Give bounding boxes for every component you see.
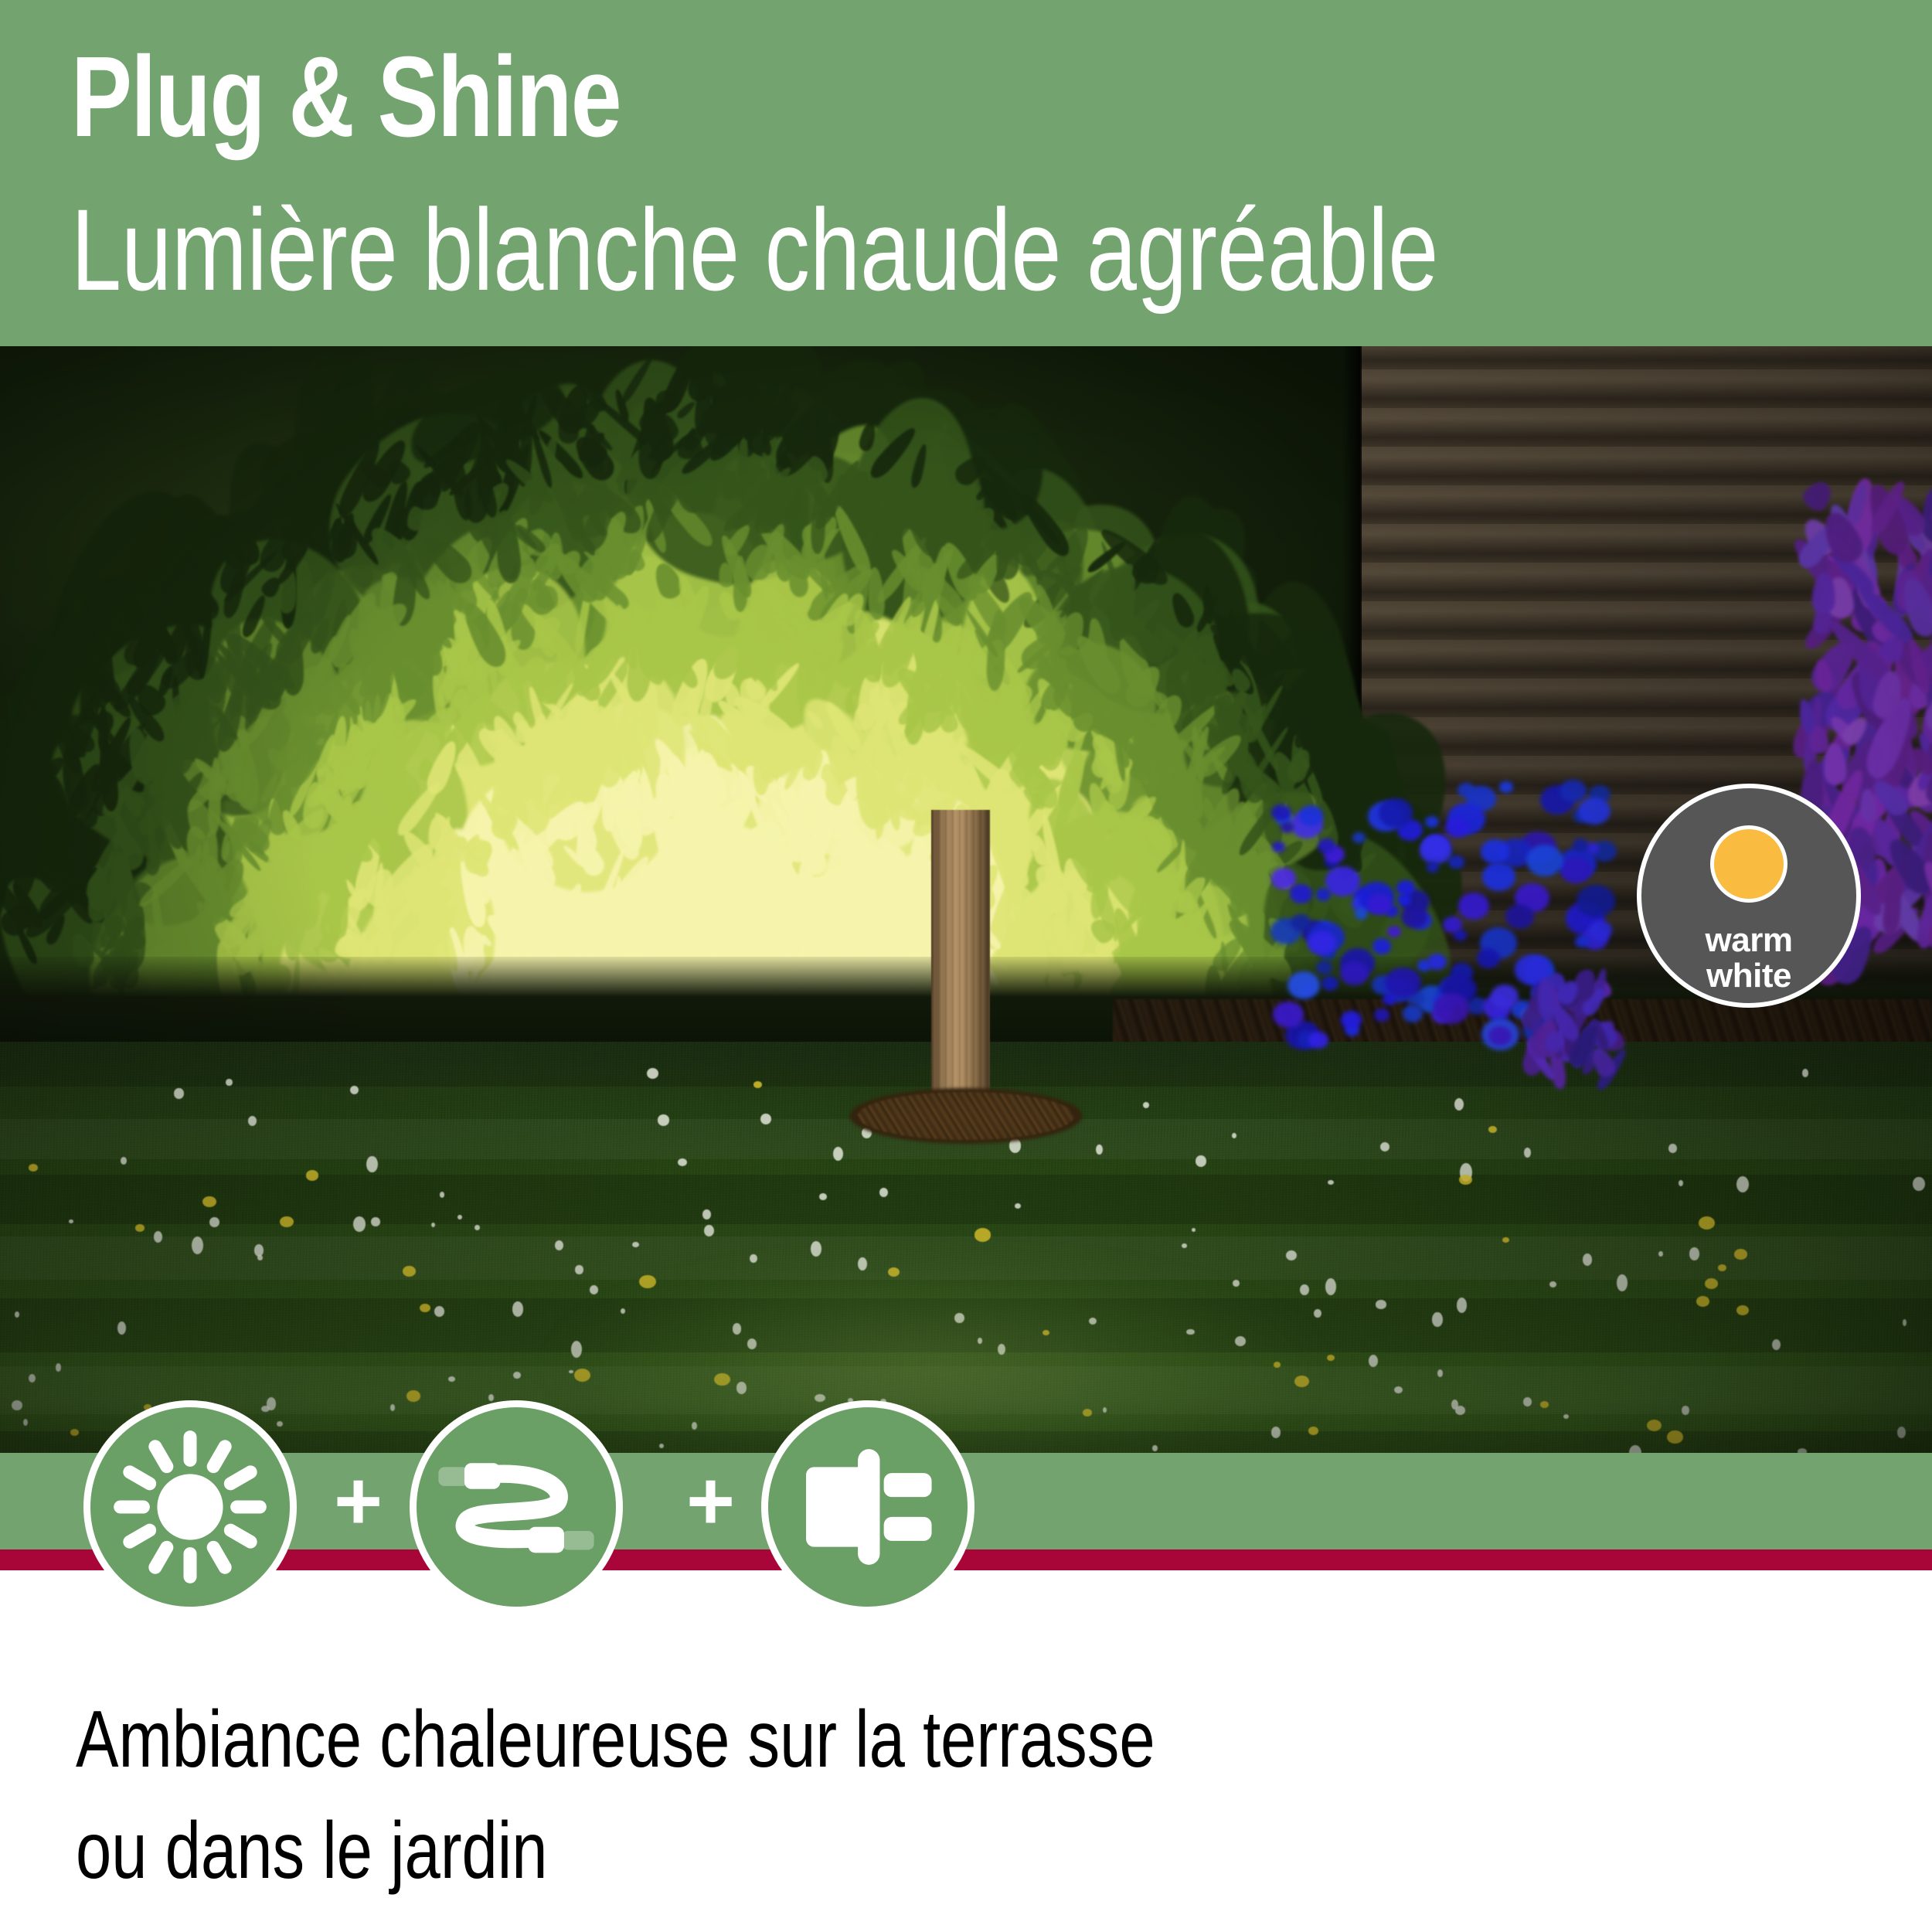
- blue-flower: [1340, 961, 1369, 985]
- trunk-mulch-chips: [858, 1092, 1074, 1140]
- lawn-daisy: [366, 1156, 378, 1173]
- lawn-daisy: [1196, 1155, 1206, 1166]
- blue-flower: [1299, 805, 1324, 826]
- lawn-daisy: [15, 1311, 19, 1317]
- plus-separator-1: +: [334, 1459, 383, 1543]
- badge-label-warm: warm: [1706, 923, 1793, 958]
- lawn-daisy: [1679, 1180, 1683, 1186]
- lawn-daisy: [1286, 1250, 1297, 1260]
- caption-line-1: Ambiance chaleureuse sur la terrasse: [76, 1685, 1374, 1796]
- lawn-dandelion: [406, 1390, 420, 1402]
- blue-flower: [1273, 1002, 1304, 1028]
- blue-flower: [1425, 816, 1439, 828]
- blue-flower: [1341, 1011, 1362, 1029]
- lawn-dandelion: [1699, 1216, 1715, 1230]
- blue-flower: [1482, 862, 1515, 891]
- lawn-dandelion: [1502, 1237, 1509, 1243]
- feature-icon-cable[interactable]: [410, 1400, 623, 1614]
- lawn-daisy: [811, 1241, 821, 1257]
- blue-flower: [1443, 917, 1462, 933]
- blue-flower: [1401, 906, 1427, 928]
- lawn-daisy: [192, 1236, 203, 1254]
- blue-flower: [1420, 837, 1452, 864]
- blue-flower: [1458, 783, 1475, 798]
- blue-flower: [1434, 993, 1469, 1024]
- lawn-dandelion: [1718, 1264, 1726, 1271]
- headline-text: Lumière blanche chaude agréable: [71, 192, 1438, 308]
- blue-flower: [1368, 894, 1392, 914]
- blue-flower: [1477, 948, 1500, 968]
- lawn-daisy: [1682, 1406, 1689, 1414]
- blue-flower: [1481, 839, 1509, 863]
- lawn-daisy: [1015, 1203, 1021, 1209]
- lawn-daisy: [56, 1363, 61, 1372]
- blue-flower: [1316, 961, 1333, 975]
- caption-block: Ambiance chaleureuse sur la terrasse ou …: [76, 1685, 1374, 1906]
- lawn-daisy: [1192, 1228, 1196, 1232]
- lawn-daisy: [12, 1400, 22, 1410]
- foliage-needle: [86, 661, 104, 689]
- blue-flower: [1448, 855, 1464, 869]
- lawn-dandelion: [306, 1170, 319, 1180]
- lawn-daisy: [1143, 1102, 1149, 1108]
- lawn-daisy: [174, 1088, 183, 1099]
- blue-flower: [1387, 926, 1401, 937]
- lawn-dandelion: [1696, 1296, 1709, 1307]
- blue-flower: [1281, 821, 1294, 833]
- lawn-daisy: [1903, 1319, 1907, 1326]
- blue-flower: [1271, 804, 1291, 821]
- warm-white-dot: [1710, 825, 1787, 903]
- lawn-daisy: [1380, 1142, 1389, 1151]
- conifer-canopy: [0, 346, 1499, 1019]
- page-title: Plug & Shine: [71, 40, 621, 155]
- trunk-bark-grain: [931, 810, 990, 1123]
- lawn-daisy: [750, 1254, 757, 1263]
- lawn-daisy: [1563, 1414, 1569, 1419]
- poster-canvas: Plug & Shine Lumière blanche chaude agré…: [0, 0, 1932, 1932]
- lawn-daisy: [1617, 1274, 1628, 1291]
- blue-flower: [1427, 862, 1439, 872]
- lawn-daisy: [704, 1225, 714, 1236]
- power-plug-icon: [768, 1407, 968, 1607]
- lawn-daisy: [1549, 1281, 1556, 1287]
- caption-line-2: ou dans le jardin: [76, 1796, 1374, 1907]
- blue-flower: [1374, 1009, 1389, 1022]
- plus-separator-2: +: [686, 1459, 735, 1543]
- badge-label-white: white: [1706, 958, 1791, 994]
- blue-flower: [1560, 780, 1587, 802]
- header-band: Plug & Shine Lumière blanche chaude agré…: [0, 0, 1932, 346]
- lawn-daisy: [1736, 1176, 1749, 1192]
- lawn-dandelion: [1667, 1430, 1683, 1444]
- lawn-dandelion: [975, 1228, 992, 1241]
- blue-flower: [1575, 935, 1589, 947]
- blue-flower: [1578, 798, 1611, 825]
- blue-flower: [1491, 985, 1519, 1009]
- lawn-daisy: [1668, 1144, 1676, 1153]
- blue-flower: [1308, 1032, 1328, 1049]
- lawn-daisy: [1523, 1397, 1531, 1406]
- blue-flower: [1499, 781, 1512, 793]
- lawn-daisy: [1451, 1400, 1458, 1410]
- lawn-dandelion: [1736, 1305, 1749, 1315]
- lawn-dandelion: [403, 1266, 416, 1276]
- lawn-daisy: [1913, 1177, 1924, 1191]
- blue-flower: [1325, 866, 1360, 896]
- blue-flower: [1352, 832, 1365, 843]
- blue-flower: [1488, 1026, 1512, 1046]
- lawn-daisy: [209, 1217, 219, 1227]
- feature-icon-plug[interactable]: [761, 1400, 975, 1614]
- blue-flower: [1372, 938, 1391, 954]
- lawn-daisy: [1182, 1243, 1186, 1248]
- lawn-daisy: [474, 1225, 480, 1230]
- blue-flower: [1396, 880, 1415, 896]
- lawn-dandelion: [1647, 1420, 1662, 1431]
- blue-flower: [1316, 888, 1331, 900]
- blue-flower: [1427, 954, 1447, 970]
- lawn-daisy: [1772, 1339, 1781, 1350]
- lawn-dandelion: [1488, 1126, 1497, 1133]
- lawn-daisy: [440, 1192, 444, 1198]
- lawn-dandelion: [1734, 1249, 1747, 1259]
- warm-white-badge: warm white: [1637, 784, 1861, 1008]
- lawn-daisy: [371, 1217, 380, 1226]
- blue-flower: [1577, 885, 1614, 917]
- blue-flower: [1290, 884, 1312, 903]
- lawn-daisy: [702, 1209, 711, 1219]
- lawn-daisy: [833, 1147, 843, 1161]
- blue-flower: [1318, 838, 1335, 853]
- lawn-daisy: [226, 1079, 232, 1086]
- blue-flower: [1526, 845, 1563, 876]
- blue-flower: [1560, 857, 1591, 883]
- lawn-daisy: [1897, 1427, 1906, 1438]
- hero-photo: warm white: [0, 346, 1932, 1549]
- lawn-daisy: [121, 1157, 127, 1165]
- blue-flower: [1379, 798, 1413, 828]
- lawn-dandelion: [202, 1196, 216, 1207]
- lawn-daisy: [457, 1215, 462, 1219]
- lawn-daisy: [353, 1216, 366, 1232]
- lawn-daisy: [1096, 1145, 1103, 1155]
- feature-icon-light[interactable]: [83, 1400, 297, 1614]
- lawn-daisy: [1689, 1247, 1699, 1260]
- lawn-daisy: [760, 1114, 771, 1124]
- blue-flower: [1573, 838, 1588, 852]
- lawn-dandelion: [29, 1164, 38, 1172]
- blue-flower: [1321, 976, 1339, 991]
- blue-flower: [1589, 920, 1612, 940]
- blue-flower: [1458, 893, 1490, 919]
- lawn-daisy: [254, 1244, 264, 1256]
- lawn-daisy: [658, 1114, 670, 1125]
- blue-flower: [1445, 818, 1469, 838]
- lawn-daisy: [29, 1374, 36, 1383]
- lawn-daisy: [1454, 1098, 1464, 1111]
- cable-connector-icon: [417, 1407, 616, 1607]
- sun-light-icon: [90, 1407, 290, 1607]
- lawn-daisy: [390, 1404, 395, 1411]
- lawn-daisy: [819, 1193, 827, 1200]
- blue-flower: [1403, 1005, 1423, 1022]
- lawn-dandelion: [135, 1224, 145, 1232]
- lawn-daisy: [69, 1219, 73, 1223]
